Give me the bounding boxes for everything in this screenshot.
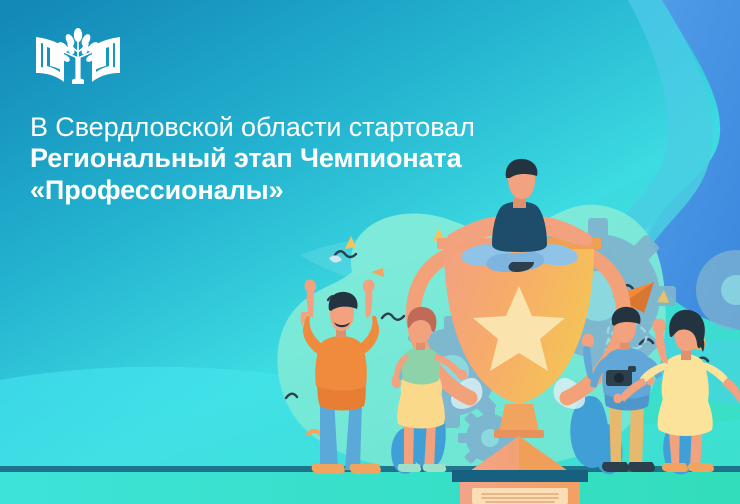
organization-logo — [30, 28, 126, 86]
man-with-camera — [582, 307, 662, 472]
shoe-right — [628, 462, 655, 472]
arm-right — [722, 378, 740, 404]
shoe-left — [602, 462, 629, 472]
hand-raised — [652, 319, 665, 333]
headline-line-2: Региональный этап Чемпионата — [30, 143, 630, 174]
headline-line-3: «Профессионалы» — [30, 175, 630, 206]
headline-line-1: В Свердловской области стартовал — [30, 112, 630, 143]
arm-raised — [583, 344, 594, 382]
pants-right — [629, 402, 644, 470]
hand-raised — [582, 334, 594, 347]
page-title: В Свердловской области стартовал Региона… — [30, 112, 630, 206]
arm-raised — [655, 330, 668, 364]
pants-left — [609, 402, 622, 470]
open-book-with-tree-icon — [30, 28, 126, 86]
shoe-right — [688, 463, 714, 472]
promo-banner: В Свердловской области стартовал Региона… — [0, 0, 740, 504]
shoe-left — [662, 463, 688, 472]
dress — [662, 354, 709, 406]
